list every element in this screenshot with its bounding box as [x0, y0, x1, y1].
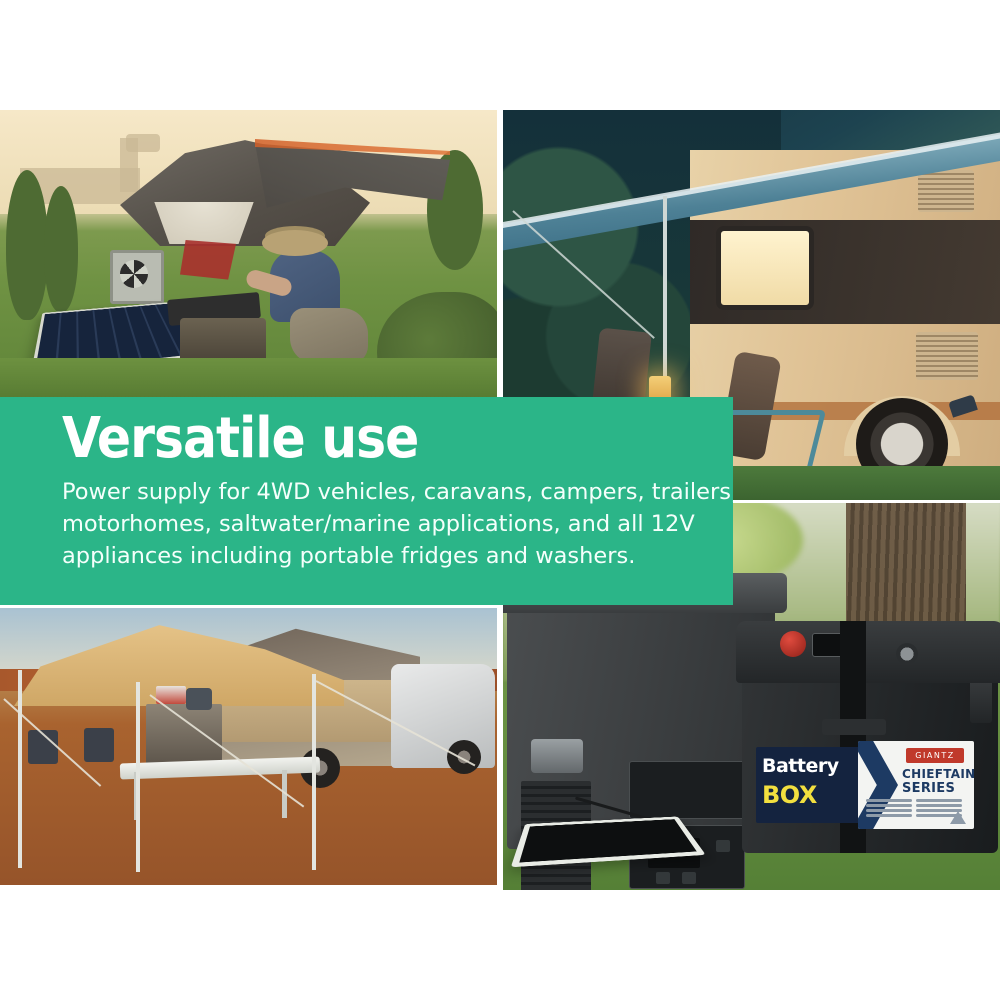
banner-description: Power supply for 4WD vehicles, caravans,… [62, 477, 715, 573]
panel-camping-tent-solar [0, 110, 497, 398]
conifer-tree [6, 170, 48, 320]
vehicle-wheel [447, 740, 481, 774]
conifer-tree [44, 186, 78, 312]
caravan-vent [916, 332, 978, 380]
label-box-text: BOX [762, 781, 817, 809]
rotary-switch-knob[interactable] [780, 631, 806, 657]
versatile-use-banner: Versatile use Power supply for 4WD vehic… [0, 397, 733, 605]
fridge-spec-plate [629, 761, 745, 819]
feature-bullet [866, 814, 912, 817]
cooking-pot [186, 688, 212, 710]
battery-box-lid [736, 621, 1000, 683]
recycling-triangle-icon [950, 811, 966, 824]
battery-box: Battery BOX GIANTZ CHIEFTAIN SERIES [742, 621, 998, 853]
banner-text-block: Versatile use Power supply for 4WD vehic… [62, 411, 715, 573]
camper-person [250, 230, 368, 378]
portable-fridge-freezer [507, 599, 775, 849]
canopy-pole [18, 670, 22, 868]
feature-bullet [866, 809, 912, 812]
feature-bullet [866, 804, 912, 807]
label-battery-text: Battery [762, 755, 839, 777]
banner-description-line: Power supply for 4WD vehicles, caravans,… [62, 477, 715, 509]
fridge-up-button[interactable] [682, 872, 696, 884]
bucket-hat [262, 230, 328, 256]
battery-box-name-label: Battery BOX [756, 747, 860, 823]
background-tank [126, 134, 160, 152]
banner-description-line: motorhomes, saltwater/marine application… [62, 509, 715, 541]
camp-chair [84, 728, 114, 762]
feature-bullet [916, 804, 962, 807]
portable-fan [110, 250, 164, 304]
cigarette-socket-port[interactable] [896, 643, 918, 665]
camp-kitchen-unit [146, 704, 222, 764]
grass-foreground [0, 358, 497, 398]
marketing-image-canvas: GIANTZ Battery BOX GIANTZ CHIEFTAIN [0, 0, 1000, 1000]
caravan-vent [918, 170, 974, 212]
fridge-down-button[interactable] [656, 872, 670, 884]
canopy-pole [312, 674, 316, 870]
banner-title: Versatile use [62, 411, 715, 467]
giantz-logo-badge: GIANTZ [906, 748, 964, 763]
feature-bullet [866, 799, 912, 802]
banner-description-line: appliances including portable fridges an… [62, 541, 715, 573]
canopy-pole [136, 682, 140, 872]
person-legs [290, 308, 368, 364]
battery-box-series-label: GIANTZ CHIEFTAIN SERIES [858, 741, 974, 829]
series-name-line-1: CHIEFTAIN [902, 767, 974, 781]
series-name-line-2: SERIES [902, 781, 955, 796]
caravan-window [716, 226, 814, 310]
fridge-handle [531, 739, 583, 773]
feature-bullet [916, 799, 962, 802]
fridge-power-button[interactable] [716, 840, 730, 852]
strap-buckle [822, 719, 886, 735]
panel-outback-camper-trailer [0, 608, 497, 885]
